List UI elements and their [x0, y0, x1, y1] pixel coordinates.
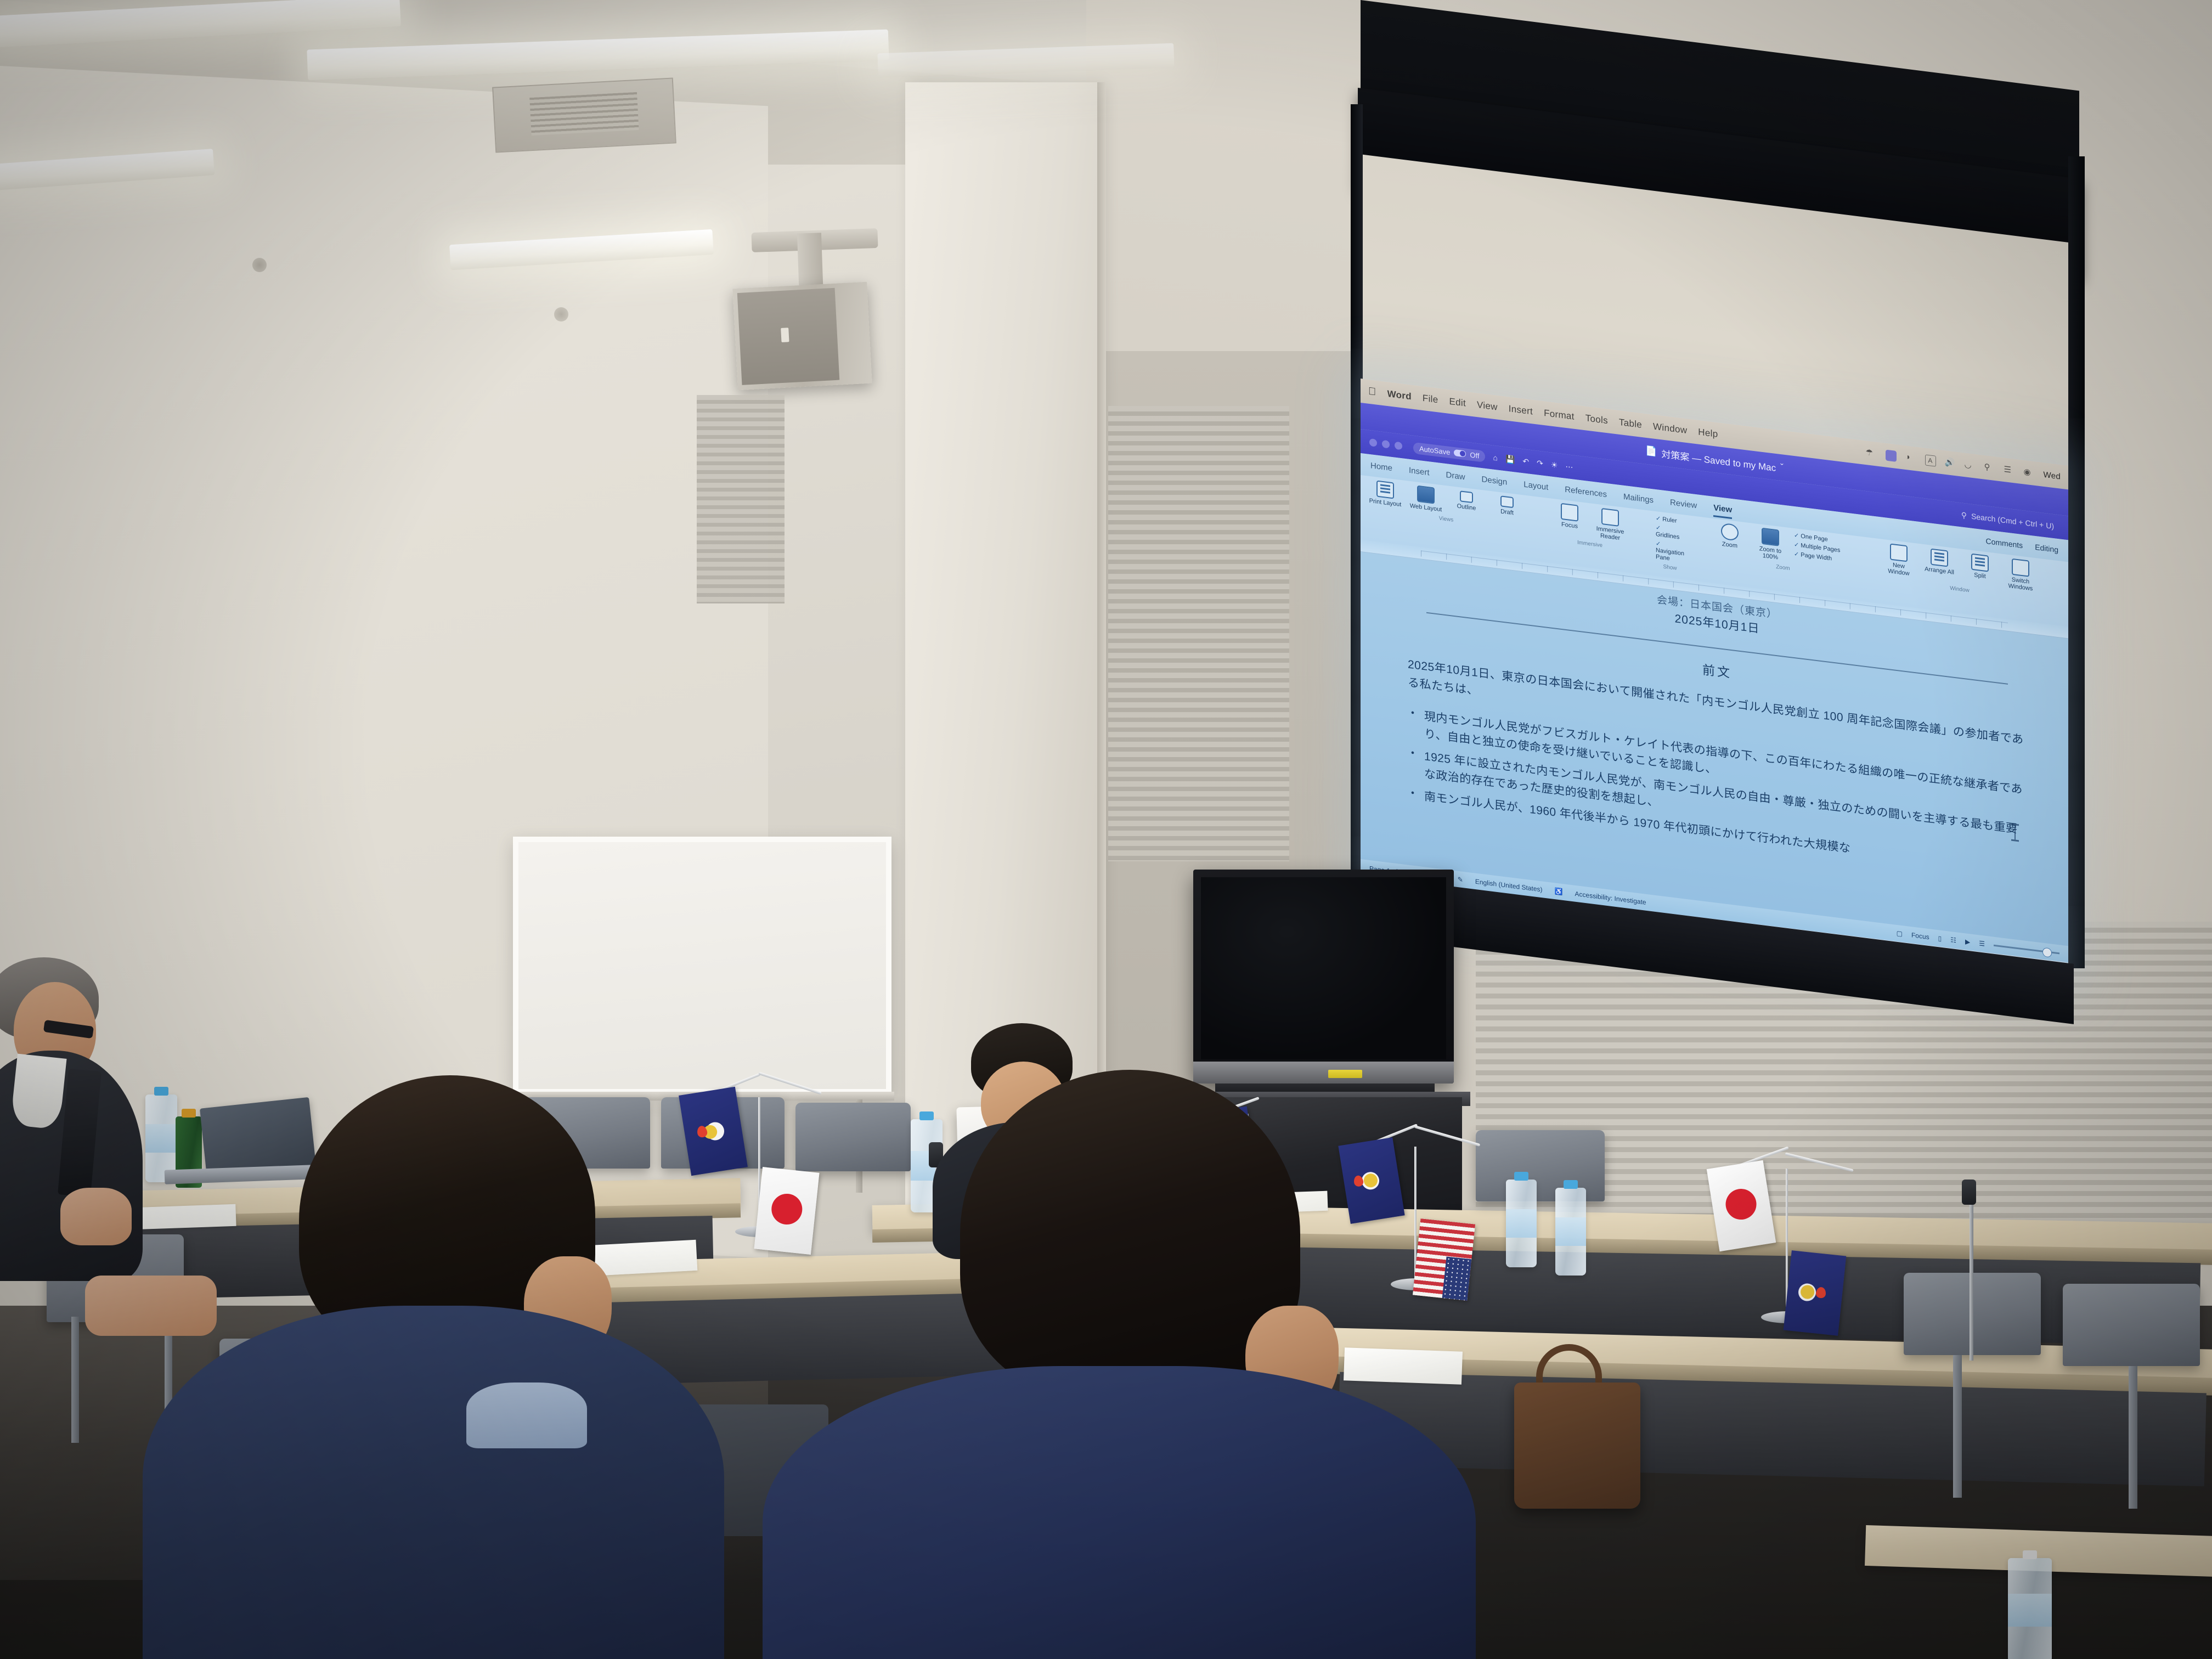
ceiling-sensor [554, 307, 568, 321]
menu-format[interactable]: Format [1544, 408, 1575, 422]
button-focus[interactable]: Focus [1553, 502, 1587, 531]
menu-help[interactable]: Help [1698, 427, 1718, 440]
checkbox-ruler[interactable]: Ruler [1656, 515, 1684, 525]
split-icon [1971, 554, 1989, 572]
volume-icon[interactable]: 🔊 [1945, 457, 1956, 469]
water-bottle-foreground [2008, 1558, 2052, 1659]
print-layout-label: Print Layout [1369, 498, 1402, 509]
tab-layout[interactable]: Layout [1523, 479, 1548, 492]
button-immersive-reader[interactable]: Immersive Reader [1593, 507, 1627, 543]
view-print-layout-icon[interactable]: ▯ [1938, 934, 1942, 943]
more-icon[interactable]: ⋯ [1565, 461, 1573, 472]
japan-flag-disc-2 [1723, 1187, 1758, 1222]
switch-windows-icon [2012, 558, 2029, 577]
water-bottle-right-2 [1555, 1188, 1586, 1276]
bottle-cap-blue-4 [1564, 1180, 1578, 1189]
speaker-led [781, 328, 789, 342]
autosave-state: Off [1470, 450, 1479, 460]
checkbox-navigation-pane[interactable]: Navigation Pane [1656, 540, 1684, 563]
group-label-views: Views [1439, 516, 1454, 523]
bottle-label-5 [2008, 1594, 2052, 1627]
window-traffic-lights[interactable] [1369, 438, 1402, 450]
ceiling-sprinkler [252, 258, 267, 272]
editing-button[interactable]: Editing [2035, 543, 2058, 554]
menu-tools[interactable]: Tools [1585, 413, 1608, 426]
button-print-layout[interactable]: Print Layout [1368, 479, 1402, 509]
bottle-cap-white [2023, 1550, 2037, 1559]
flag-arm-right-b [1785, 1153, 1853, 1172]
bluetooth-icon[interactable]: ☂ [1866, 447, 1877, 459]
ribbon-right-actions: Comments Editing [1986, 537, 2059, 554]
bottle-label-3 [1506, 1209, 1537, 1237]
draft-label: Draft [1500, 508, 1514, 516]
ribbon-group-show: Ruler Gridlines Navigation Pane Show [1656, 515, 1684, 572]
flag-stand-left [675, 1031, 839, 1262]
save-icon[interactable]: 💾 [1505, 454, 1515, 465]
tab-mailings[interactable]: Mailings [1623, 492, 1654, 505]
screen-frame-right [2068, 156, 2085, 968]
tab-view[interactable]: View [1713, 503, 1732, 514]
tab-design[interactable]: Design [1482, 475, 1508, 487]
menu-table[interactable]: Table [1619, 417, 1642, 431]
button-zoom[interactable]: Zoom [1713, 522, 1747, 551]
tab-draw[interactable]: Draw [1446, 470, 1465, 482]
title-chevron-icon[interactable]: ˇ [1780, 462, 1784, 473]
button-zoom-100[interactable]: Zoom to 100% [1753, 527, 1787, 562]
menu-bar-clock[interactable]: Wed [2044, 470, 2061, 481]
control-center-icon[interactable]: ☰ [2004, 464, 2015, 476]
arrange-all-icon [1931, 549, 1948, 567]
autosave-knob-icon [1454, 449, 1466, 458]
focus-view-icon [1561, 503, 1578, 522]
proofing-icon[interactable]: ✎ [1458, 876, 1463, 884]
zoom-icon [1721, 523, 1739, 541]
zoom-label: Zoom [1722, 541, 1737, 550]
autosave-toggle[interactable]: AutoSave Off [1413, 442, 1485, 462]
new-window-icon [1890, 543, 1908, 562]
word-doc-icon: 📄 [1645, 445, 1657, 458]
us-flag-canton [1442, 1257, 1472, 1301]
button-outline[interactable]: Outline [1449, 489, 1483, 513]
group-label-immersive: Immersive [1577, 539, 1602, 549]
japan-flag-2 [1707, 1160, 1776, 1251]
immersive-reader-label: Immersive Reader [1593, 525, 1627, 543]
focus-mode-icon[interactable]: ▢ [1897, 929, 1903, 938]
accessibility-icon[interactable]: ♿ [1555, 887, 1563, 896]
window-blinds-left [697, 395, 785, 603]
menu-file[interactable]: File [1423, 393, 1438, 406]
zoom-100-icon [1762, 528, 1779, 546]
tab-insert[interactable]: Insert [1409, 465, 1430, 477]
search-icon: ⚲ [1961, 510, 1967, 520]
focus-icon[interactable]: ◑ [1905, 452, 1916, 464]
wall-monitor [1193, 870, 1454, 1084]
soyombo-emblem-icon-4 [1797, 1282, 1832, 1305]
button-web-layout[interactable]: Web Layout [1409, 484, 1443, 513]
monitor-panel [1201, 877, 1446, 1059]
chair-leg-4 [2129, 1366, 2137, 1509]
foreground-left-shirt-collar [466, 1383, 587, 1448]
foreground-center-navy-suit [763, 1366, 1476, 1659]
search-icon[interactable]: ⚲ [1984, 462, 1995, 474]
tab-references[interactable]: References [1565, 484, 1607, 499]
print-layout-icon [1376, 481, 1394, 499]
home-icon[interactable]: ⌂ [1493, 453, 1497, 462]
chair-leg-3 [1953, 1355, 1962, 1498]
conference-room-photo:  Word File Edit View Insert Format Tool… [0, 0, 2212, 1659]
menu-word[interactable]: Word [1387, 388, 1412, 402]
screenshot-icon[interactable] [1886, 449, 1897, 461]
person-foreground-center [839, 1070, 1443, 1659]
person-foreground-left [203, 1075, 697, 1659]
water-bottle-right-1 [1506, 1180, 1537, 1267]
split-label: Split [1974, 572, 1985, 580]
button-arrange-all[interactable]: Arrange All [1922, 548, 1956, 577]
tab-review[interactable]: Review [1670, 498, 1697, 510]
button-new-window[interactable]: New Window [1882, 543, 1916, 578]
status-focus[interactable]: Focus [1911, 931, 1929, 941]
text-cursor-icon [2015, 825, 2016, 839]
ceiling-vent [492, 77, 676, 153]
web-layout-icon [1417, 486, 1435, 504]
autosave-label: AutoSave [1419, 444, 1450, 456]
southern-mongolia-flag-4 [1784, 1250, 1847, 1336]
menu-edit[interactable]: Edit [1449, 396, 1466, 409]
wifi-icon[interactable]: ◡ [1965, 459, 1976, 471]
button-macros[interactable]: Macros [2066, 565, 2068, 594]
leather-bag [1514, 1383, 1640, 1509]
bottle-cap-blue-3 [1514, 1172, 1528, 1181]
comments-button[interactable]: Comments [1986, 537, 2023, 550]
view-web-layout-icon[interactable]: ☷ [1950, 936, 1956, 944]
microphone-head-right [1962, 1180, 1976, 1205]
new-window-label: New Window [1882, 561, 1916, 578]
siri-icon[interactable]: ◉ [2024, 466, 2035, 478]
input-source-icon[interactable]: A [1925, 454, 1936, 466]
checkbox-gridlines[interactable]: Gridlines [1656, 524, 1684, 541]
button-draft[interactable]: Draft [1490, 494, 1524, 518]
outline-icon [1460, 490, 1473, 503]
word-search-placeholder: Search (Cmd + Ctrl + U) [1971, 512, 2054, 531]
menu-window[interactable]: Window [1653, 421, 1687, 436]
speaker-hand-on-laptop [85, 1276, 217, 1336]
bottle-label-4 [1555, 1217, 1586, 1245]
tab-home[interactable]: Home [1370, 461, 1392, 473]
soyombo-emblem-icon [695, 1118, 731, 1144]
immersive-reader-icon [1601, 508, 1619, 527]
draft-icon [1500, 495, 1514, 508]
apple-logo-icon[interactable]:  [1368, 386, 1376, 399]
ceiling-speaker [732, 282, 872, 391]
outline-label: Outline [1457, 503, 1476, 512]
button-switch-windows[interactable]: Switch Windows [2004, 557, 2038, 593]
group-label-show: Show [1663, 564, 1677, 572]
japan-flag-disc [770, 1192, 804, 1226]
foreground-left-navy-suit [143, 1306, 724, 1659]
arrange-all-label: Arrange All [1925, 566, 1954, 576]
web-layout-label: Web Layout [1410, 503, 1442, 513]
zoom-100-label: Zoom to 100% [1753, 545, 1787, 562]
undo-icon[interactable]: ↶ [1522, 456, 1529, 466]
redo-icon[interactable]: ↷ [1537, 458, 1543, 468]
globe-icon[interactable]: ☀ [1551, 460, 1558, 470]
speaker-hand [60, 1188, 132, 1245]
flag-stand-right [1695, 1108, 1871, 1339]
view-outline-icon[interactable]: ☰ [1979, 939, 1985, 947]
view-read-icon[interactable]: ▶ [1965, 938, 1970, 946]
zoom-slider[interactable] [1994, 944, 2059, 954]
button-split[interactable]: Split [1963, 552, 1997, 582]
window-blinds-center [1108, 406, 1289, 861]
person-speaker-with-microphone [0, 957, 203, 1396]
focus-label: Focus [1561, 521, 1578, 530]
switch-windows-label: Switch Windows [2004, 575, 2038, 593]
microphone-stand-right [1970, 1201, 1973, 1361]
japan-flag [754, 1167, 819, 1255]
ribbon-group-immersive: Focus Immersive Reader Immersive [1553, 502, 1627, 551]
flag-arm-left-b [758, 1072, 822, 1095]
menu-view[interactable]: View [1477, 399, 1498, 413]
group-label-window: Window [1950, 585, 1970, 594]
chair-right-3 [2063, 1284, 2200, 1366]
ribbon-group-macros: Macros Macros [2066, 565, 2068, 603]
menu-insert[interactable]: Insert [1509, 403, 1533, 417]
group-label-zoom: Zoom [1776, 564, 1790, 572]
